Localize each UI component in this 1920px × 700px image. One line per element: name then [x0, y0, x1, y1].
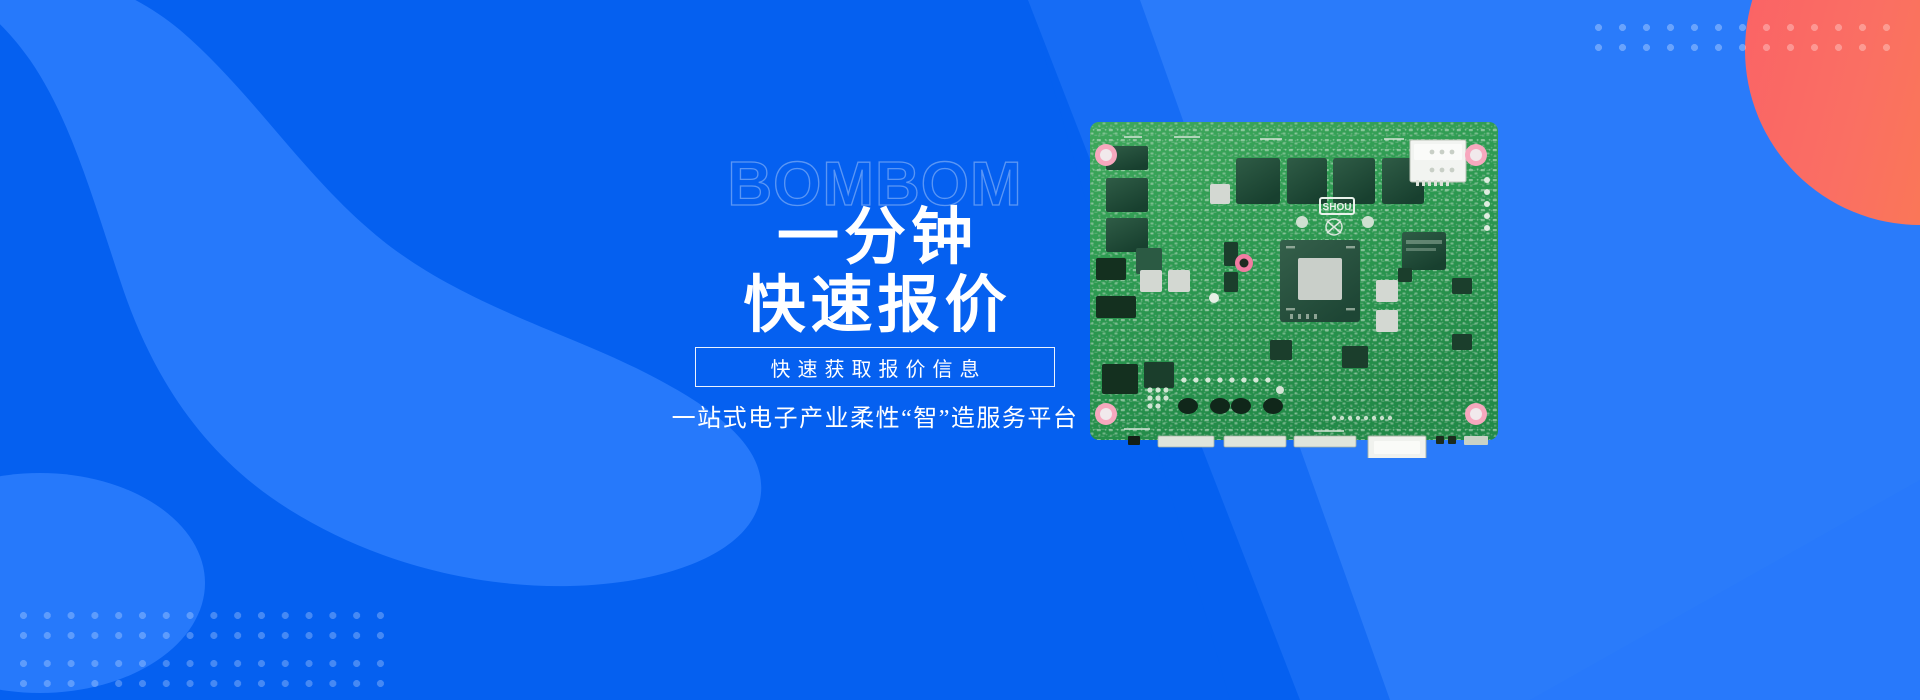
cta-pill-label: 快速获取报价信息 — [764, 353, 987, 382]
headline-line-2: 快速报价 — [660, 273, 1090, 339]
banner-tagline: 一站式电子产业柔性“智”造服务平台 — [615, 398, 1135, 433]
pcb-board-svg: SHOU — [1084, 118, 1508, 458]
banner-text-column: BOMBOM 一分钟 快速报价 快速获取报价信息 一站式电子产业柔性“智”造服务… — [660, 150, 1090, 570]
headline-line-1: 一分钟 — [660, 205, 1090, 271]
cta-pill-button[interactable]: 快速获取报价信息 — [695, 347, 1055, 387]
promo-banner: SHOU — [0, 0, 1920, 700]
pcb-circuit-board-image: SHOU — [1084, 118, 1508, 458]
svg-text:SHOU: SHOU — [1323, 202, 1352, 213]
